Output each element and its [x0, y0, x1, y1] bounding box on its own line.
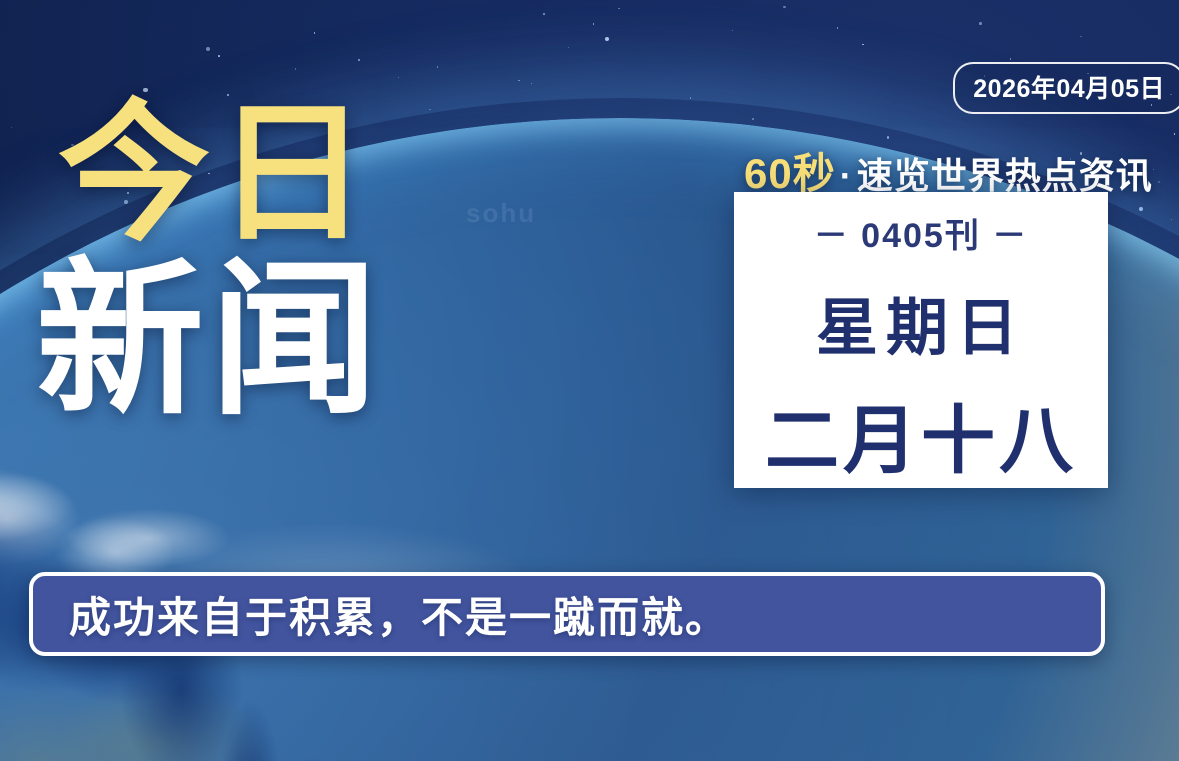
card-lunar-date: 二月十八	[765, 381, 1077, 488]
date-card: － 0405刊 － 星期日 二月十八	[734, 192, 1108, 488]
tagline-seconds: 60秒	[744, 150, 836, 197]
card-issue-number: － 0405刊 －	[814, 208, 1029, 257]
quote-bar: 成功来自于积累，不是一蹴而就。	[29, 572, 1105, 656]
card-weekday: 星期日	[816, 277, 1026, 367]
title-line-news: 新闻	[36, 255, 384, 426]
tagline-text: 速览世界热点资讯	[857, 155, 1153, 196]
news-poster: sohu 今日 新闻 2026年04月05日 60秒·速览世界热点资讯 － 04…	[0, 0, 1179, 761]
quote-text: 成功来自于积累，不是一蹴而就。	[69, 584, 729, 645]
title-line-today: 今日	[58, 96, 384, 251]
poster-title: 今日 新闻	[58, 96, 384, 426]
watermark-text: sohu	[466, 198, 536, 229]
tagline-separator-dot: ·	[840, 155, 853, 196]
date-badge: 2026年04月05日	[953, 62, 1179, 114]
